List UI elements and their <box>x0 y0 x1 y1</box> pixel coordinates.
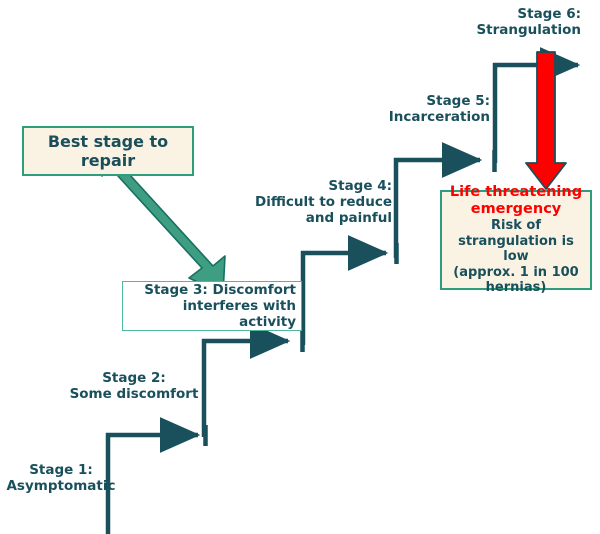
stage-label-stage6: Stage 6: Strangulation <box>441 6 581 38</box>
best-stage-to-repair-box: Best stage to repair <box>22 126 194 176</box>
stage-label-stage2: Stage 2: Some discomfort <box>68 370 200 402</box>
strangulation-red-arrow <box>526 52 566 189</box>
emergency-heading: Life threatening emergency <box>450 184 582 218</box>
emergency-body: Risk of strangulation is low (approx. 1 … <box>446 218 586 296</box>
life-threatening-emergency-box: Life threatening emergency Risk of stran… <box>440 190 592 290</box>
best-stage-arrow <box>102 162 225 294</box>
connector-stage2 <box>204 331 303 437</box>
stage-label-stage1: Stage 1: Asymptomatic <box>2 462 120 494</box>
connector-stage3 <box>303 243 397 345</box>
stage-label-stage5: Stage 5: Incarceration <box>372 93 490 125</box>
flowchart-canvas: Stage 1: Asymptomatic Stage 2: Some disc… <box>0 0 600 534</box>
connector-stage1 <box>108 425 206 534</box>
stage-label-stage4: Stage 4: Difficult to reduce and painful <box>240 178 392 226</box>
stage3-box: Stage 3: Discomfort interferes with acti… <box>122 281 302 331</box>
